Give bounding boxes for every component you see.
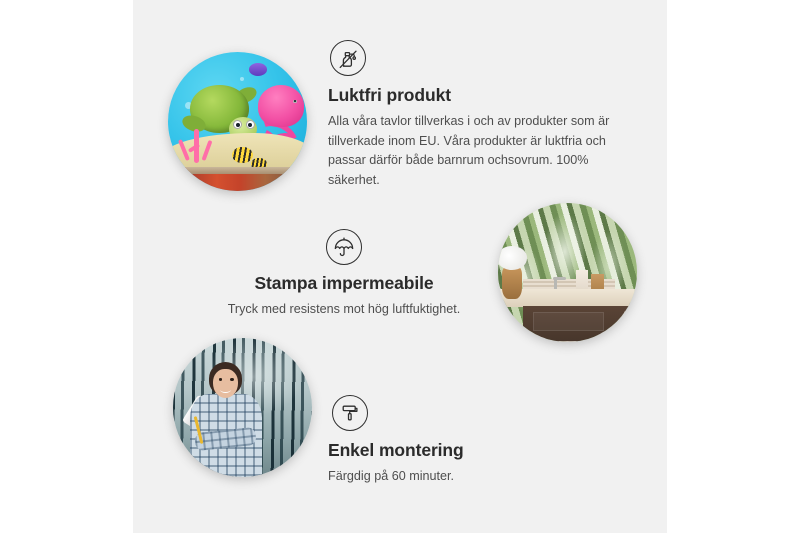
woman-eye [230, 378, 234, 381]
feature-odour-free: Luktfri produkt Alla våra tavlor tillver… [328, 40, 620, 190]
cabinet-drawer [533, 312, 604, 331]
umbrella-icon [326, 229, 362, 265]
forest-scene [173, 338, 312, 477]
vanity-cabinet [523, 306, 637, 342]
white-flowers [498, 246, 527, 270]
feature-description: Tryck med resistens mot hög luftfuktighe… [218, 300, 470, 320]
decor-vase [502, 266, 521, 299]
octopus-head [258, 85, 304, 127]
fish-yellow-icon [232, 147, 253, 164]
bathroom-scene [498, 203, 637, 342]
image-ocean-mural [168, 52, 307, 191]
feature-description: Alla våra tavlor tillverkas i och av pro… [328, 112, 620, 190]
feature-waterproof: Stampa impermeabile Tryck med resistens … [218, 229, 470, 320]
feature-easy-mounting: Enkel montering Färgdig på 60 minuter. [326, 395, 526, 487]
room-photo-strip [168, 167, 307, 191]
ocean-scene [168, 52, 307, 191]
woman-face [213, 369, 238, 398]
feature-title: Enkel montering [328, 440, 526, 461]
drawer-handle [550, 341, 589, 342]
paint-roller-icon [332, 395, 368, 431]
fish-purple-icon [249, 63, 267, 76]
coral-icon [179, 127, 215, 163]
image-forest-wallpaper-installer [173, 338, 312, 477]
image-bathroom-leaf-wallpaper [498, 203, 637, 342]
feature-description: Färgdig på 60 minuter. [328, 467, 526, 487]
feature-title: Stampa impermeabile [218, 273, 470, 294]
octopus-eye [293, 100, 297, 103]
no-fragrance-icon [330, 40, 366, 76]
feature-title: Luktfri produkt [328, 85, 620, 106]
promo-graphic: Luktfri produkt Alla våra tavlor tillver… [0, 0, 800, 533]
cabinet-handle [624, 311, 628, 336]
